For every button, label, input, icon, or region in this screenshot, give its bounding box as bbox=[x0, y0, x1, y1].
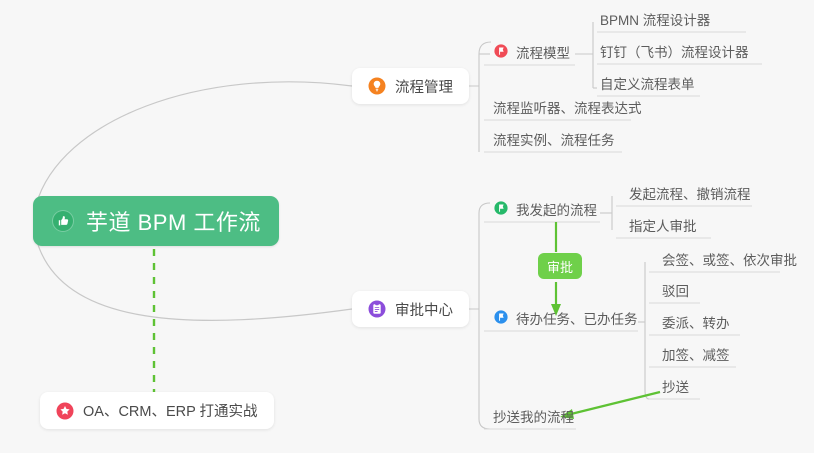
branch-node-process-management[interactable]: 流程管理 bbox=[352, 68, 469, 104]
node-process-listener[interactable]: 流程监听器、流程表达式 bbox=[491, 99, 646, 125]
star-icon bbox=[56, 402, 74, 420]
branch-node-approval-center[interactable]: 审批中心 bbox=[352, 291, 469, 327]
node-delegate[interactable]: 委派、转办 bbox=[660, 314, 734, 340]
node-label-delegate: 委派、转办 bbox=[662, 314, 730, 333]
flag-green-icon bbox=[494, 201, 508, 215]
thumbs-up-icon bbox=[51, 209, 75, 233]
lightbulb-icon bbox=[368, 77, 386, 95]
flag-red-icon bbox=[494, 44, 508, 58]
node-custom-form[interactable]: 自定义流程表单 bbox=[598, 75, 699, 101]
node-add-remove-sign[interactable]: 加签、减签 bbox=[660, 346, 734, 372]
node-assignee-approve[interactable]: 指定人审批 bbox=[627, 217, 701, 243]
node-todo-done[interactable]: 待办任务、已办任务 bbox=[492, 310, 642, 336]
node-label-add-remove-sign: 加签、减签 bbox=[662, 346, 730, 365]
node-cc[interactable]: 抄送 bbox=[660, 378, 693, 404]
node-label-cc: 抄送 bbox=[662, 378, 689, 397]
relation-label-approve[interactable]: 审批 bbox=[538, 253, 582, 279]
root-label: 芋道 BPM 工作流 bbox=[86, 205, 261, 237]
node-label-bpmn-designer: BPMN 流程设计器 bbox=[600, 11, 710, 30]
floating-node-integration[interactable]: OA、CRM、ERP 打通实战 bbox=[40, 392, 274, 429]
node-label-custom-form: 自定义流程表单 bbox=[600, 75, 695, 94]
node-dingtalk-designer[interactable]: 钉钉（飞书）流程设计器 bbox=[598, 43, 753, 69]
node-label-reject: 驳回 bbox=[662, 282, 689, 301]
node-label-assignee-approve: 指定人审批 bbox=[629, 217, 697, 236]
clipboard-icon bbox=[368, 300, 386, 318]
node-label-my-started: 我发起的流程 bbox=[516, 201, 597, 220]
branch-label-approval-center: 审批中心 bbox=[395, 299, 453, 320]
mindmap-canvas[interactable]: 芋道 BPM 工作流 流程管理 流程模型 BPMN 流程设计器 钉钉（飞书）流程… bbox=[0, 0, 814, 453]
node-start-cancel[interactable]: 发起流程、撤销流程 bbox=[627, 185, 755, 211]
node-reject[interactable]: 驳回 bbox=[660, 282, 693, 308]
flag-blue-icon bbox=[494, 310, 508, 324]
node-label-start-cancel: 发起流程、撤销流程 bbox=[629, 185, 751, 204]
node-cc-to-me[interactable]: 抄送我的流程 bbox=[491, 408, 578, 434]
branch-label-process-management: 流程管理 bbox=[395, 76, 453, 97]
node-label-sign-modes: 会签、或签、依次审批 bbox=[662, 251, 797, 270]
node-label-todo-done: 待办任务、已办任务 bbox=[516, 310, 638, 329]
node-label-process-instance: 流程实例、流程任务 bbox=[493, 131, 615, 150]
node-sign-modes[interactable]: 会签、或签、依次审批 bbox=[660, 251, 801, 277]
relation-label-approve-text: 审批 bbox=[547, 257, 573, 276]
node-label-process-model: 流程模型 bbox=[516, 44, 570, 63]
node-process-model[interactable]: 流程模型 bbox=[492, 44, 574, 70]
node-label-cc-to-me: 抄送我的流程 bbox=[493, 408, 574, 427]
node-my-started[interactable]: 我发起的流程 bbox=[492, 201, 601, 227]
root-node[interactable]: 芋道 BPM 工作流 bbox=[33, 196, 279, 246]
node-process-instance[interactable]: 流程实例、流程任务 bbox=[491, 131, 619, 157]
floating-node-label: OA、CRM、ERP 打通实战 bbox=[83, 400, 258, 421]
node-bpmn-designer[interactable]: BPMN 流程设计器 bbox=[598, 11, 714, 37]
node-label-process-listener: 流程监听器、流程表达式 bbox=[493, 99, 642, 118]
node-label-dingtalk-designer: 钉钉（飞书）流程设计器 bbox=[600, 43, 749, 62]
